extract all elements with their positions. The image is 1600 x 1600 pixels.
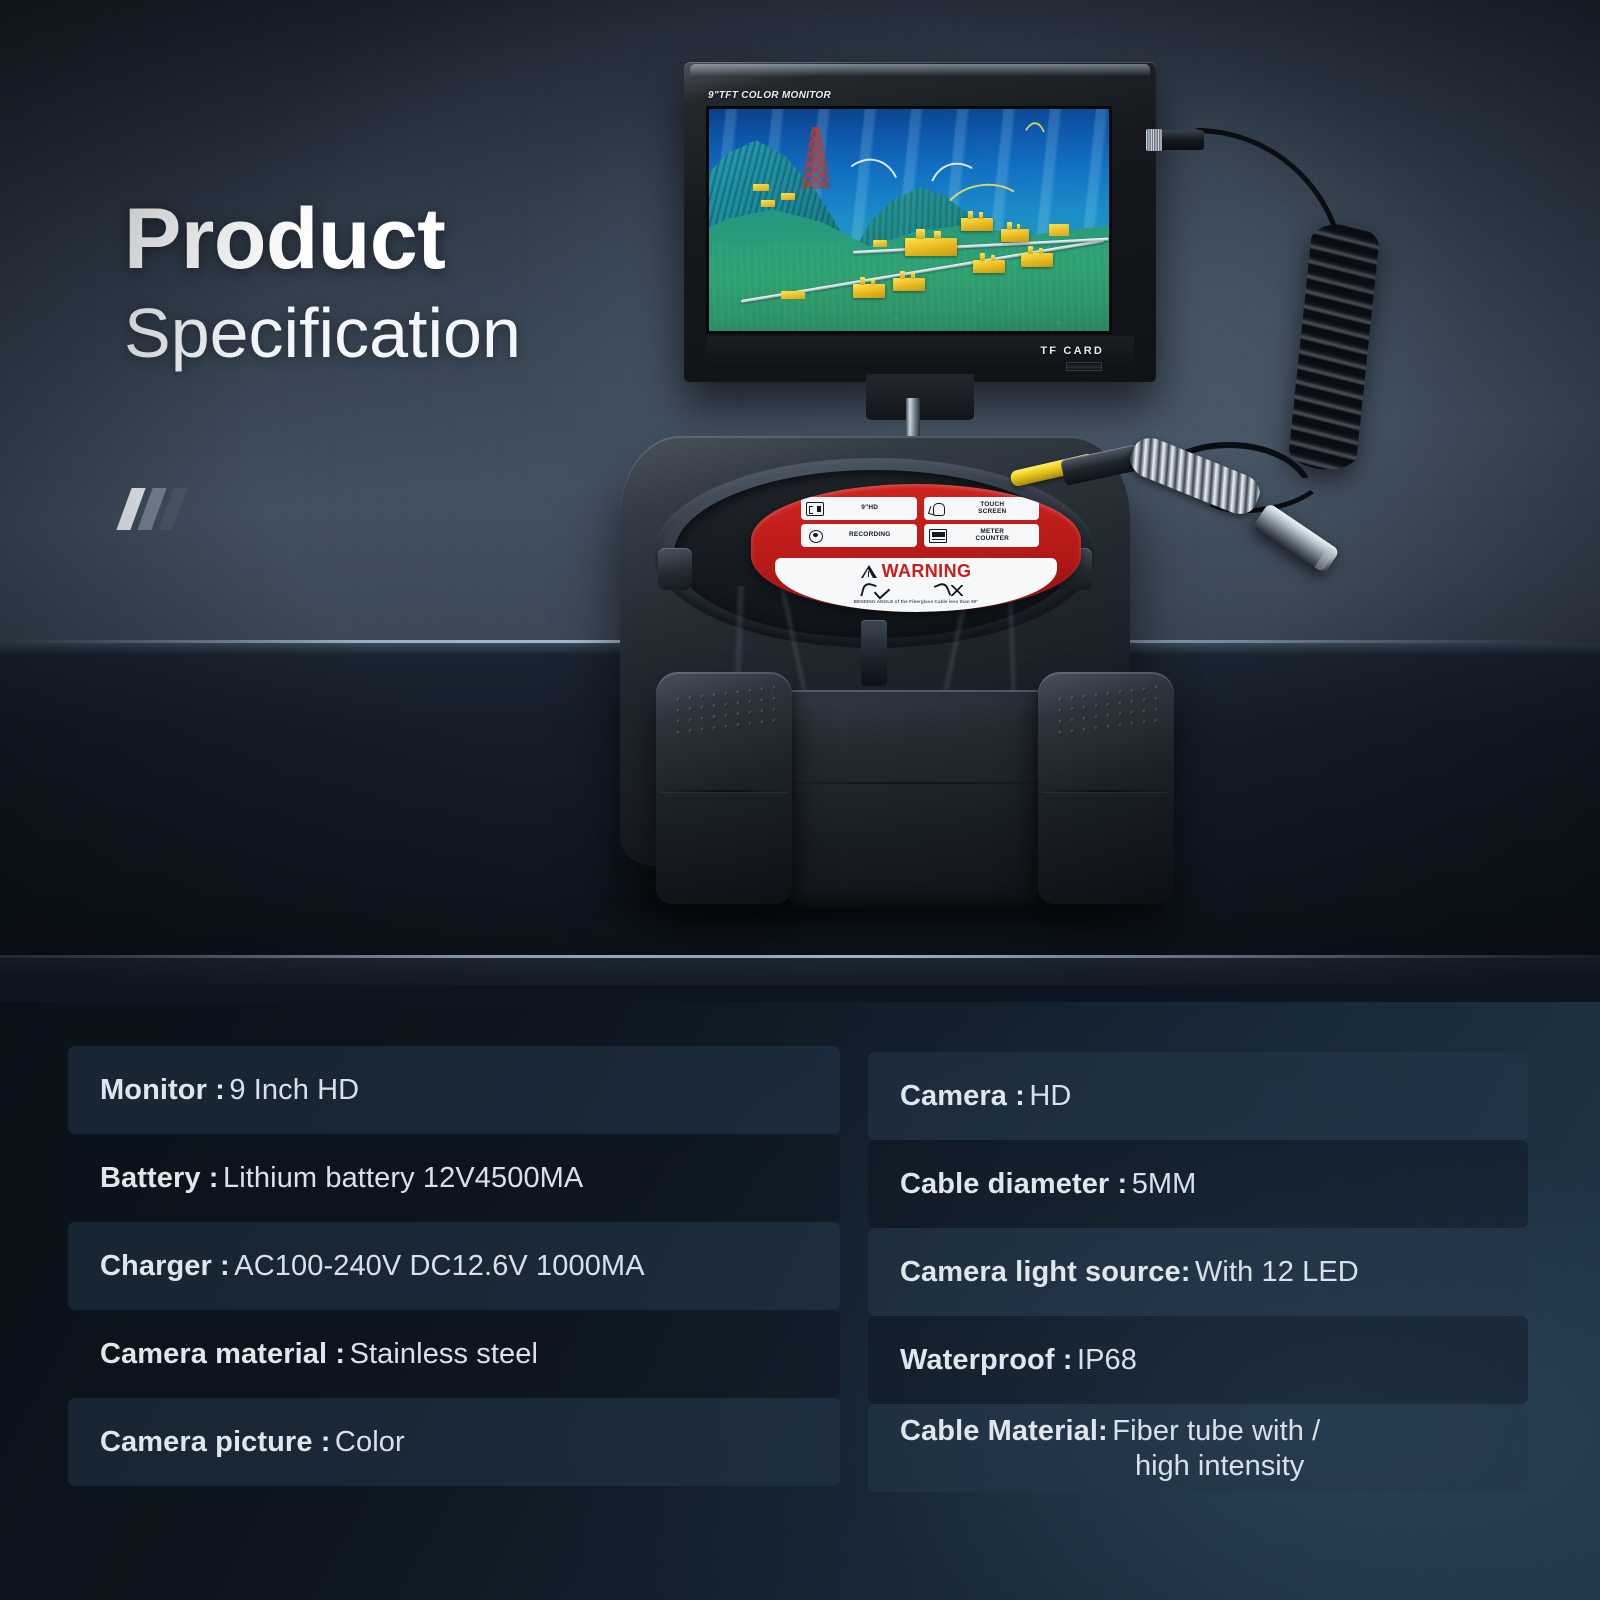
title-sub: Specification [124,298,521,368]
monitor-stand-neck [866,374,974,420]
hero-product-photo: Product Specification 9"TFT COLOR MONITO… [0,0,1600,985]
hd-screen-icon [806,502,824,516]
spec-label-monitor: Monitor : [100,1074,225,1106]
spec-row-camera-material: Camera material : Stainless steel [68,1310,840,1398]
feature-badge-hd: 9"HD [801,497,917,520]
spec-value-camera-material: Stainless steel [350,1338,539,1370]
subsea-manifold-5 [893,278,925,291]
spec-row-charger: Charger : AC100-240V DC12.6V 1000MA [68,1222,840,1310]
spec-value-light-source: With 12 LED [1195,1256,1359,1288]
spec-label-light-source: Camera light source: [900,1256,1190,1288]
seabed-valve-4 [873,240,887,247]
spec-label-cable-material: Cable Material: [900,1415,1108,1447]
reel-side-ear-left [658,548,692,590]
spec-column-right: Camera : HD Cable diameter : 5MM Camera … [868,1046,1528,1492]
spec-row-camera-picture: Camera picture : Color [68,1398,840,1486]
subsea-manifold-4 [853,284,885,297]
table-front-edge [0,958,1600,985]
specifications-grid: Monitor : 9 Inch HD Battery : Lithium ba… [68,1046,1528,1492]
seabed-valve-3 [761,200,775,207]
reel-foot-right [1038,672,1174,904]
subsea-manifold-2 [961,218,993,231]
spec-row-cable-material: Cable Material: Fiber tube with / high i… [868,1404,1528,1492]
spec-label-camera-material: Camera material : [100,1338,345,1370]
spec-column-left: Monitor : 9 Inch HD Battery : Lithium ba… [68,1046,840,1492]
spec-row-light-source: Camera light source: With 12 LED [868,1228,1528,1316]
subsea-node-1 [1049,224,1069,235]
spec-row-camera: Camera : HD [868,1052,1528,1140]
spec-value-battery: Lithium battery 12V4500MA [223,1162,583,1194]
reel-feature-label: 9"HD TOUCHSCREEN RECORDING METERCOUNTER [751,484,1081,612]
warning-fine-print: BENDING ANGLE of the Fiberglass Cable le… [854,599,979,605]
warning-pictograms [858,583,974,598]
spec-row-monitor: Monitor : 9 Inch HD [68,1046,840,1134]
spec-label-cable-diameter: Cable diameter : [900,1168,1127,1200]
feature-badge-list: 9"HD TOUCHSCREEN RECORDING METERCOUNTER [801,497,1039,547]
title-main: Product [124,196,521,282]
badge-label-meter: METERCOUNTER [951,529,1035,543]
warning-title: WARNING [882,561,972,582]
foot-grip-texture-right [1054,682,1158,741]
feature-badge-meter: METERCOUNTER [924,524,1040,547]
warning-title-row: WARNING [861,561,972,582]
bend-allowed-check-icon [858,583,898,598]
spec-row-battery: Battery : Lithium battery 12V4500MA [68,1134,840,1222]
feature-badge-touch: TOUCHSCREEN [924,497,1040,520]
lcd-monitor: 9"TFT COLOR MONITOR [684,62,1156,382]
reel-center-panel [790,690,1040,908]
warning-triangle-icon [861,565,877,578]
seabed-valve-5 [781,291,805,299]
spec-value-monitor: 9 Inch HD [229,1074,359,1106]
monitor-bezel-label: 9"TFT COLOR MONITOR [708,90,831,101]
foot-seam-right [1042,790,1170,792]
tf-card-label: TF CARD [1040,345,1104,357]
spec-row-waterproof: Waterproof : IP68 [868,1316,1528,1404]
badge-label-recording: RECORDING [828,532,912,539]
recording-camera-icon [806,529,824,543]
plug-knurled-ring [1146,129,1162,151]
stainless-camera-head [1252,503,1340,576]
spec-label-waterproof: Waterproof : [900,1344,1073,1376]
screen-image [709,109,1109,331]
badge-label-touch: TOUCHSCREEN [951,502,1035,516]
spec-value-cable-material-line2: high intensity [900,1449,1320,1484]
spec-label-camera: Camera : [900,1080,1025,1112]
badge-label-hd: 9"HD [828,505,912,512]
subsea-manifold-6 [973,260,1005,273]
touch-hand-icon [929,502,947,516]
subsea-manifold-main [905,238,957,256]
spec-value-camera-picture: Color [335,1426,405,1458]
reel-center-latch[interactable] [861,620,887,686]
feature-badge-recording: RECORDING [801,524,917,547]
spec-value-cable-diameter: 5MM [1132,1168,1197,1200]
reel-foot-left [656,672,792,904]
subsea-manifold-7 [1021,253,1053,266]
subsea-manifold-3 [1001,229,1029,242]
spec-label-charger: Charger : [100,1250,230,1282]
seabed-valve-2 [781,193,795,200]
product-specification-page: Product Specification 9"TFT COLOR MONITO… [0,0,1600,1600]
monitor-screen [706,106,1112,334]
spec-label-battery: Battery : [100,1162,219,1194]
spec-label-camera-picture: Camera picture : [100,1426,330,1458]
monitor-top-highlight [690,64,1150,76]
meter-counter-icon [929,529,947,543]
spec-value-cable-material: Fiber tube with / [1112,1415,1320,1447]
spec-row-cable-diameter: Cable diameter : 5MM [868,1140,1528,1228]
spec-value-waterproof: IP68 [1077,1344,1137,1376]
page-title: Product Specification [124,196,521,368]
specifications-section: Monitor : 9 Inch HD Battery : Lithium ba… [0,1002,1600,1600]
spec-value-charger: AC100-240V DC12.6V 1000MA [234,1250,644,1282]
spec-value-camera: HD [1029,1080,1071,1112]
bend-forbidden-cross-icon [934,583,974,598]
tf-card-slot[interactable] [1066,362,1102,371]
decorative-slashes [124,488,180,530]
seabed-valve-1 [753,184,769,191]
foot-grip-texture-left [672,682,776,741]
foot-seam-left [660,790,788,792]
